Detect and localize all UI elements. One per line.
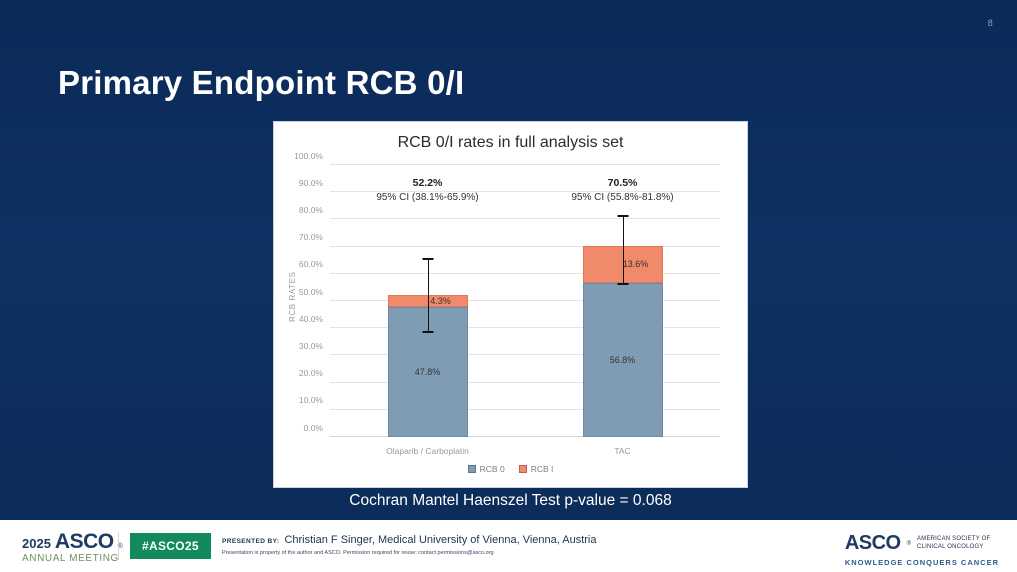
gridline — [330, 218, 720, 219]
bar-segment-rcb0[interactable]: 56.8% — [583, 283, 663, 437]
chart-legend: RCB 0RCB I — [274, 464, 747, 474]
asco-fullname-line2: CLINICAL ONCOLOGY — [917, 544, 984, 550]
y-axis-tick-label: 90.0% — [299, 178, 323, 188]
p-value-caption: Cochran Mantel Haenszel Test p-value = 0… — [273, 492, 748, 510]
legend-label: RCB 0 — [480, 464, 505, 474]
asco-logo: ASCO ® AMERICAN SOCIETY OF CLINICAL ONCO… — [845, 532, 999, 567]
legend-swatch-icon — [468, 465, 476, 473]
x-axis-tick-label: TAC — [559, 446, 687, 456]
y-axis-tick-label: 20.0% — [299, 368, 323, 378]
bar-value-label: 56.8% — [584, 355, 662, 365]
legend-swatch-icon — [519, 465, 527, 473]
y-axis-tick-label: 60.0% — [299, 259, 323, 269]
hashtag-badge: #ASCO25 — [130, 533, 211, 559]
y-axis-title: RCB RATES — [288, 271, 297, 322]
ci-range-label: 95% CI (38.1%-65.9%) — [333, 192, 523, 203]
legend-label: RCB I — [531, 464, 554, 474]
bar-value-label: 47.8% — [389, 367, 467, 377]
presented-by-label: PRESENTED BY: — [222, 538, 279, 545]
permission-note: Presentation is property of the author a… — [222, 550, 596, 556]
error-bar — [623, 215, 624, 286]
ci-range-label: 95% CI (55.8%-81.8%) — [528, 192, 718, 203]
slide-number: 8 — [988, 18, 993, 28]
page-title: Primary Endpoint RCB 0/I — [58, 64, 464, 102]
x-axis-tick-label: Olaparib / Carboplatin — [364, 446, 492, 456]
asco-tagline: KNOWLEDGE CONQUERS CANCER — [845, 558, 999, 567]
slide-footer: 2025 ASCO ® ANNUAL MEETING #ASCO25 PRESE… — [0, 520, 1017, 572]
error-bar — [428, 258, 429, 334]
ci-total-label: 70.5% — [528, 177, 718, 189]
error-bar-cap-top — [618, 215, 629, 217]
gridline — [330, 164, 720, 165]
presented-by-block: PRESENTED BY: Christian F Singer, Medica… — [222, 534, 596, 556]
chart-title: RCB 0/I rates in full analysis set — [274, 134, 747, 152]
y-axis-tick-label: 10.0% — [299, 395, 323, 405]
y-axis-tick-label: 50.0% — [299, 287, 323, 297]
asco-annual-meeting-logo: 2025 ASCO ® ANNUAL MEETING — [22, 531, 123, 565]
y-axis-tick-label: 70.0% — [299, 232, 323, 242]
error-bar-cap-bottom — [618, 283, 629, 285]
logo-asco-word: ASCO — [55, 531, 114, 553]
asco-wordmark: ASCO — [845, 532, 901, 555]
ci-annotation: 52.2%95% CI (38.1%-65.9%) — [333, 177, 523, 203]
y-axis-tick-label: 80.0% — [299, 205, 323, 215]
plot-area: 100.0%90.0%80.0%70.0%60.0%50.0%40.0%30.0… — [330, 165, 720, 437]
y-axis-tick-label: 0.0% — [304, 423, 323, 433]
logo-year: 2025 — [22, 537, 51, 551]
legend-item[interactable]: RCB 0 — [468, 464, 505, 474]
y-axis-tick-label: 40.0% — [299, 314, 323, 324]
logo-subtitle: ANNUAL MEETING — [22, 554, 123, 565]
registered-mark-icon: ® — [907, 541, 911, 547]
error-bar-cap-bottom — [423, 331, 434, 333]
error-bar-cap-top — [423, 258, 434, 260]
ci-annotation: 70.5%95% CI (55.8%-81.8%) — [528, 177, 718, 203]
y-axis-tick-label: 30.0% — [299, 341, 323, 351]
slide: 8 Primary Endpoint RCB 0/I RCB 0/I rates… — [0, 0, 1017, 572]
y-axis-tick-label: 100.0% — [294, 151, 323, 161]
chart-panel: RCB 0/I rates in full analysis set RCB R… — [273, 121, 748, 488]
presenter-name: Christian F Singer, Medical University o… — [284, 534, 596, 546]
asco-fullname-line1: AMERICAN SOCIETY OF — [917, 536, 990, 542]
ci-total-label: 52.2% — [333, 177, 523, 189]
footer-divider — [118, 532, 119, 560]
legend-item[interactable]: RCB I — [519, 464, 554, 474]
